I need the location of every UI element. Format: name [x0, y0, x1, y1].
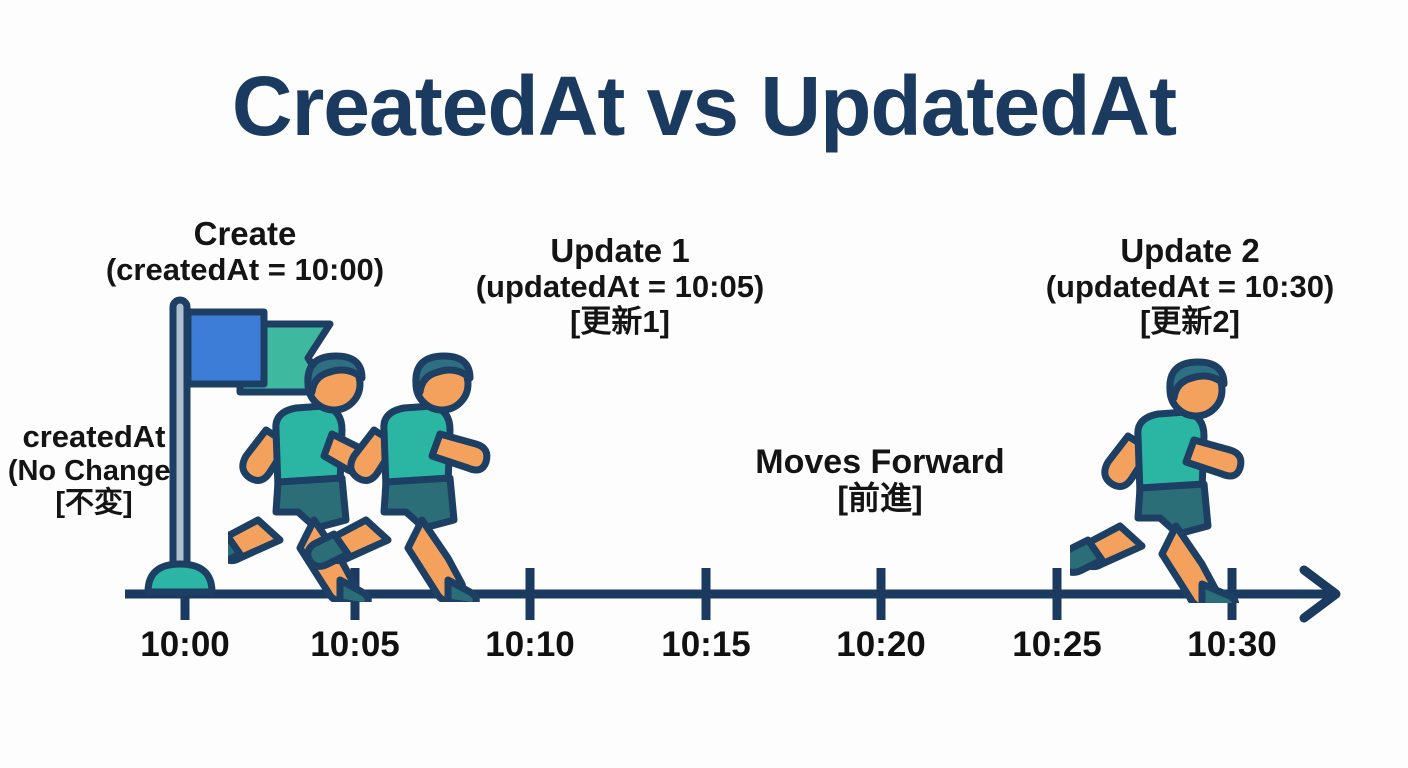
annotation-create-line1: Create [55, 216, 435, 253]
annotation-moves-line1: Moves Forward [730, 443, 1030, 481]
infographic-canvas: CreatedAt vs UpdatedAt 10:00 10:05 10:10… [0, 0, 1408, 768]
annotation-moves-forward: Moves Forward [前進] [730, 443, 1030, 517]
tick-label-4: 10:15 [626, 625, 786, 665]
annotation-update2-line2: (updatedAt = 10:30) [1000, 270, 1380, 305]
runner-figure-end [1070, 358, 1290, 608]
tick-label-3: 10:10 [450, 625, 610, 665]
tick-label-7: 10:30 [1152, 625, 1312, 665]
annotation-update-1: Update 1 (updatedAt = 10:05) [更新1] [430, 233, 810, 339]
annotation-update2-line1: Update 2 [1000, 233, 1380, 270]
annotation-create-line2: (createdAt = 10:00) [55, 253, 435, 288]
tick-label-6: 10:25 [977, 625, 1137, 665]
tick-label-1: 10:00 [105, 625, 265, 665]
annotation-update2-line3: [更新2] [1000, 305, 1380, 340]
annotation-update1-line3: [更新1] [430, 305, 810, 340]
annotation-update1-line2: (updatedAt = 10:05) [430, 270, 810, 305]
annotation-moves-line2: [前進] [730, 481, 1030, 517]
page-title: CreatedAt vs UpdatedAt [0, 58, 1408, 155]
flag-base [148, 564, 212, 592]
tick-label-5: 10:20 [801, 625, 961, 665]
annotation-update-2: Update 2 (updatedAt = 10:30) [更新2] [1000, 233, 1380, 339]
annotation-create: Create (createdAt = 10:00) [55, 216, 435, 288]
axis-arrow-icon [1304, 570, 1336, 618]
runner-figure [1070, 362, 1241, 603]
runners-group-start [228, 352, 518, 607]
flag-pole [173, 300, 187, 588]
runner-figure [228, 356, 368, 602]
annotation-update1-line1: Update 1 [430, 233, 810, 270]
tick-label-2: 10:05 [275, 625, 435, 665]
